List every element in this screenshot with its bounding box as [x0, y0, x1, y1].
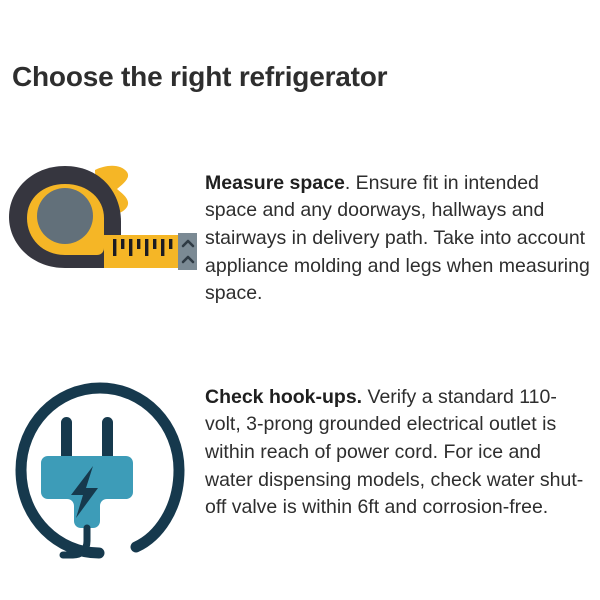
tape-measure-icon — [3, 156, 203, 296]
tip-row-check-hookups: Check hook-ups. Verify a standard 110-vo… — [0, 364, 600, 570]
plug-prong-left — [61, 417, 72, 461]
page-title: Choose the right refrigerator — [12, 61, 387, 93]
infographic-page: Choose the right refrigerator — [0, 0, 600, 600]
tip-text-measure-space: Measure space. Ensure fit in intended sp… — [205, 170, 600, 308]
tip-icon-container-check-hookups — [0, 364, 205, 570]
electrical-plug-icon — [3, 370, 203, 570]
plug-prong-right — [102, 417, 113, 461]
tip-lead-check-hookups: Check hook-ups. — [205, 386, 362, 408]
tip-text-check-hookups: Check hook-ups. Verify a standard 110-vo… — [205, 384, 600, 522]
tip-lead-measure-space: Measure space — [205, 172, 345, 194]
tip-icon-container-measure-space — [0, 150, 205, 296]
tip-row-measure-space: Measure space. Ensure fit in intended sp… — [0, 150, 600, 327]
